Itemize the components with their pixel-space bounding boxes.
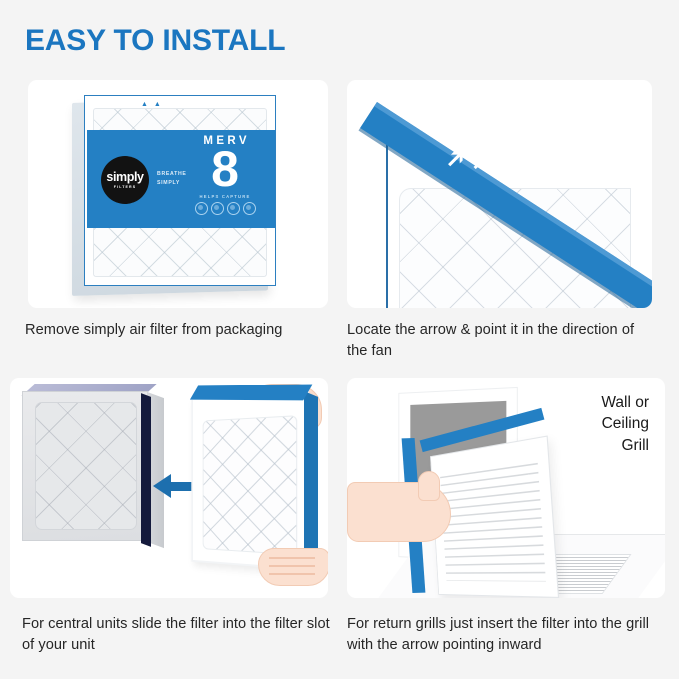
step-4-caption: For return grills just insert the filter… (347, 614, 665, 655)
hvac-unit-old-filter (35, 402, 137, 530)
filter-airflow-arrow-icon: » (227, 378, 242, 387)
grill-label-line-3: Grill (601, 435, 649, 456)
capture-icons-row (189, 202, 261, 215)
new-filter-face (191, 389, 309, 571)
airflow-arrow-icon-2: ➔ (467, 147, 497, 177)
step-2-illustration-panel: ➔ ➔ (347, 80, 652, 308)
brand-logo-text: simply (106, 171, 143, 184)
brand-logo-subtext: FILTERS (114, 185, 136, 189)
tagline-line-1: BREATHE (157, 170, 187, 179)
merv-rating-block: MERV 8 HELPS CAPTURE (189, 136, 261, 215)
filter-left-edge (386, 122, 388, 308)
dust-icon (211, 202, 224, 215)
hand-inserting-filter (347, 482, 451, 542)
airflow-arrow-illustration: ➔ ➔ (347, 80, 652, 308)
pet-dander-icon (227, 202, 240, 215)
helps-capture-label: HELPS CAPTURE (189, 194, 261, 199)
grill-label-line-1: Wall or (601, 392, 649, 413)
hand-lower (258, 548, 328, 586)
filter-package-illustration: ▲ ▲ simply FILTERS BREATHE SIMPLY MERV 8 (28, 80, 328, 308)
new-filter-media-texture (203, 415, 298, 555)
filter-slot (141, 393, 151, 547)
merv-value: 8 (189, 146, 261, 192)
step-1-caption: Remove simply air filter from packaging (25, 320, 335, 341)
box-front-face: ▲ ▲ simply FILTERS BREATHE SIMPLY MERV 8 (84, 95, 276, 286)
package-top-arrows-icon: ▲ ▲ (141, 101, 163, 108)
brand-tagline: BREATHE SIMPLY (157, 170, 187, 187)
new-filter: » (186, 394, 308, 566)
arrow-head (153, 474, 171, 498)
step-4-illustration-panel: » Wall or Ceiling Grill (347, 378, 665, 598)
insert-into-grill-illustration: » Wall or Ceiling Grill (347, 378, 665, 598)
hvac-unit-body (22, 391, 148, 541)
brand-logo-badge: simply FILTERS (101, 156, 149, 204)
new-filter-top-frame: » (190, 385, 312, 401)
page-title: EASY TO INSTALL (25, 26, 285, 56)
new-filter-side-frame (304, 391, 318, 565)
step-1-illustration-panel: ▲ ▲ simply FILTERS BREATHE SIMPLY MERV 8 (28, 80, 328, 308)
tagline-line-2: SIMPLY (157, 179, 187, 188)
grill-label-line-2: Ceiling (601, 413, 649, 434)
pollen-icon (195, 202, 208, 215)
step-2-caption: Locate the arrow & point it in the direc… (347, 320, 647, 361)
filter-box: ▲ ▲ simply FILTERS BREATHE SIMPLY MERV 8 (78, 95, 278, 291)
step-3-caption: For central units slide the filter into … (22, 614, 334, 655)
mold-spore-icon (243, 202, 256, 215)
infographic-page: EASY TO INSTALL ▲ ▲ simply FILTERS BREAT… (0, 0, 679, 679)
package-blue-sleeve: simply FILTERS BREATHE SIMPLY MERV 8 HEL… (87, 130, 275, 228)
step-3-illustration-panel: » (10, 378, 328, 598)
wall-ceiling-grill-label: Wall or Ceiling Grill (601, 392, 649, 456)
slide-into-unit-illustration: » (10, 378, 328, 598)
